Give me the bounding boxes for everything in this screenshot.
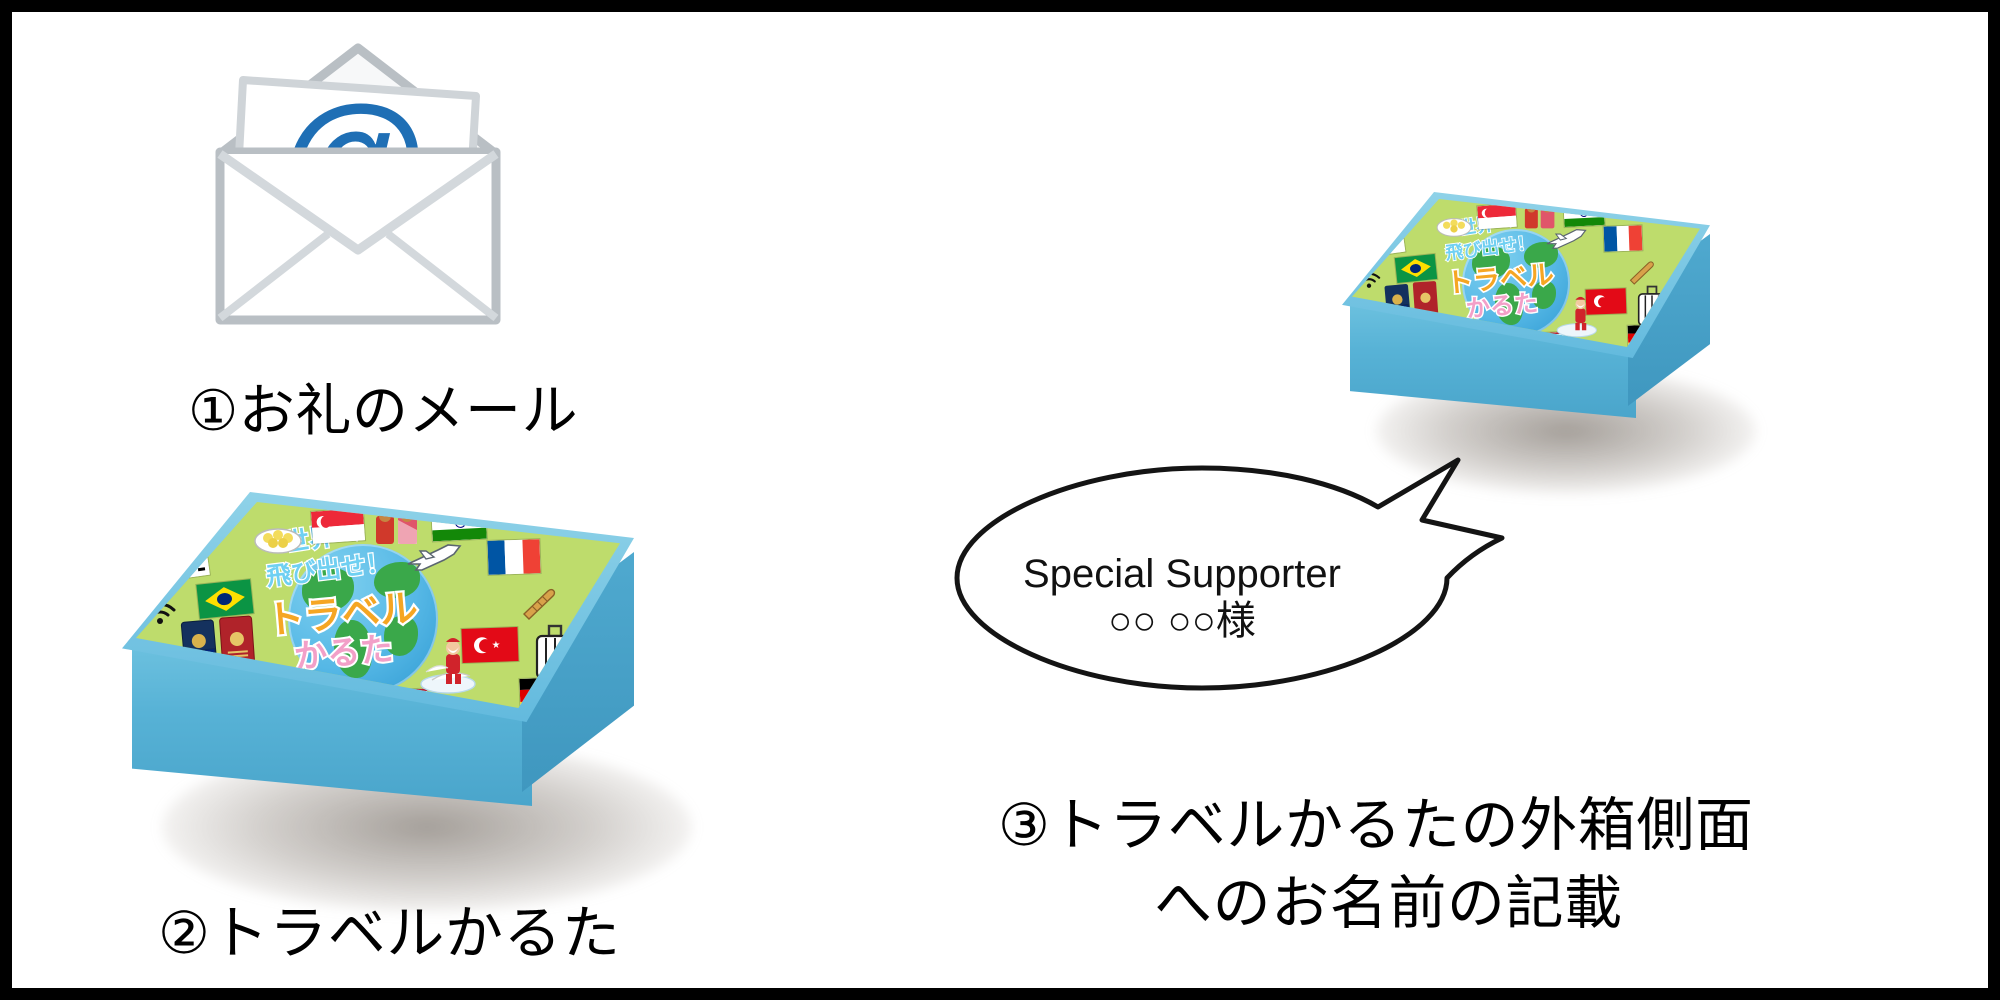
brazil-flag-sticker bbox=[196, 579, 253, 618]
airplane-sticker bbox=[404, 542, 466, 576]
surfing-santa-sticker-small bbox=[1555, 291, 1603, 339]
france-flag-sticker-small bbox=[1604, 225, 1643, 251]
baguette-sticker bbox=[518, 586, 558, 620]
caption-karuta: ②トラベルかるた bbox=[158, 902, 621, 967]
brazil-flag-sticker-small bbox=[1395, 254, 1437, 283]
email-envelope-illustration: @ bbox=[208, 34, 508, 334]
caption-name-on-box-line-1: ③トラベルかるたの外箱側面 bbox=[998, 794, 1754, 859]
airplane-sticker-small bbox=[1544, 227, 1590, 253]
speech-bubble: Special Supporter ○○ ○○様 bbox=[902, 442, 1522, 712]
caption-email: ①お礼のメール bbox=[188, 380, 578, 443]
dim-sum-plate-sticker bbox=[254, 524, 302, 554]
speech-bubble-line-1: Special Supporter bbox=[902, 550, 1462, 599]
box-title-line-4: かるた bbox=[293, 632, 394, 674]
surfing-santa-sticker bbox=[418, 630, 484, 696]
speech-bubble-line-2: ○○ ○○様 bbox=[902, 597, 1462, 646]
france-flag-sticker bbox=[487, 539, 540, 575]
singapore-flag-sticker bbox=[311, 508, 365, 544]
karuta-box-large: 世界へ 飛び出せ！ トラベル かるた bbox=[122, 492, 682, 912]
box-title-line-4-small: かるた bbox=[1465, 292, 1539, 322]
baguette-sticker-small bbox=[1626, 259, 1656, 285]
open-envelope-icon: @ bbox=[208, 34, 508, 334]
singapore-flag-sticker-small bbox=[1477, 204, 1517, 230]
dim-sum-plate-sticker-small bbox=[1436, 215, 1472, 237]
slide-canvas: @ ①お礼のメール bbox=[0, 0, 2000, 1000]
caption-name-on-box-line-2: へのお名前の記載 bbox=[1154, 872, 1623, 937]
